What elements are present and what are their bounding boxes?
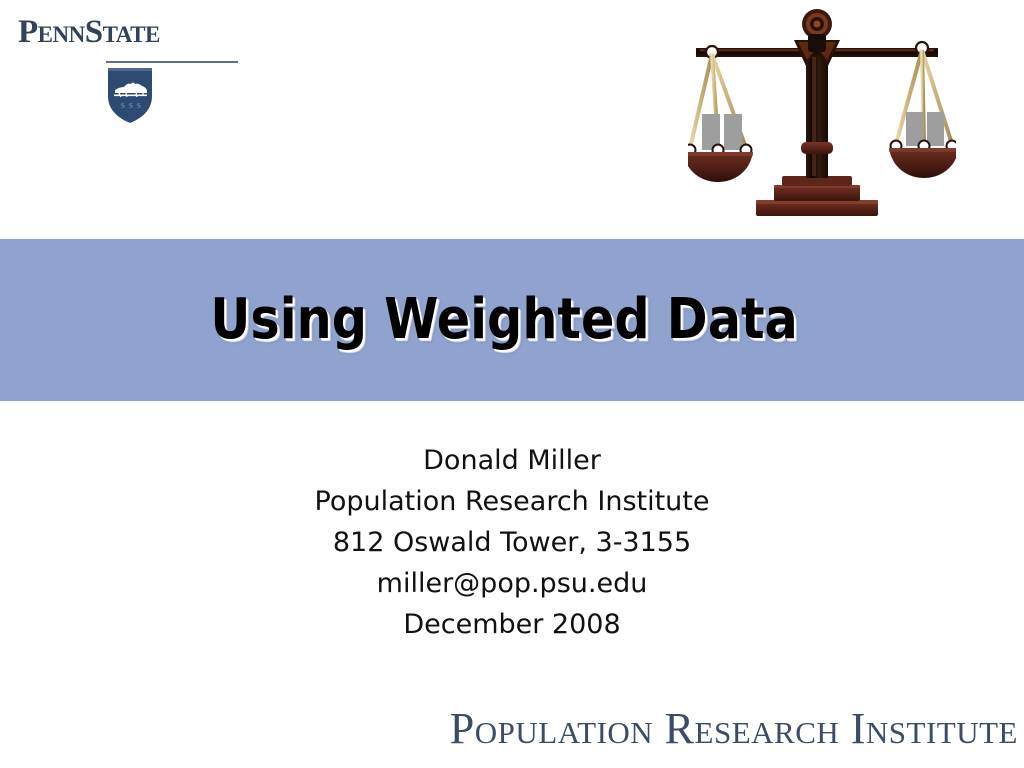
presenter-email: miller@pop.psu.edu	[0, 563, 1024, 604]
svg-text:S: S	[137, 102, 141, 110]
presenter-info-block: Donald Miller Population Research Instit…	[0, 440, 1024, 645]
balance-scale-icon	[688, 4, 956, 226]
presenter-address: 812 Oswald Tower, 3-3155	[0, 522, 1024, 563]
svg-text:S: S	[121, 102, 125, 110]
logo-underline-rule	[106, 61, 238, 63]
presenter-name: Donald Miller	[0, 440, 1024, 481]
penn-state-logo: PennState S S S	[18, 16, 230, 116]
slide-canvas: PennState S S S	[0, 0, 1024, 768]
slide-title: Using Weighted Data	[61, 292, 962, 348]
presenter-affiliation: Population Research Institute	[0, 481, 1024, 522]
penn-state-shield-icon: S S S	[106, 66, 154, 124]
pri-footer-wordmark: Population Research Institute	[0, 706, 1024, 752]
presentation-date: December 2008	[0, 604, 1024, 645]
svg-text:S: S	[129, 102, 133, 110]
penn-state-wordmark: PennState	[18, 16, 230, 49]
title-banner: Using Weighted Data	[0, 239, 1024, 401]
